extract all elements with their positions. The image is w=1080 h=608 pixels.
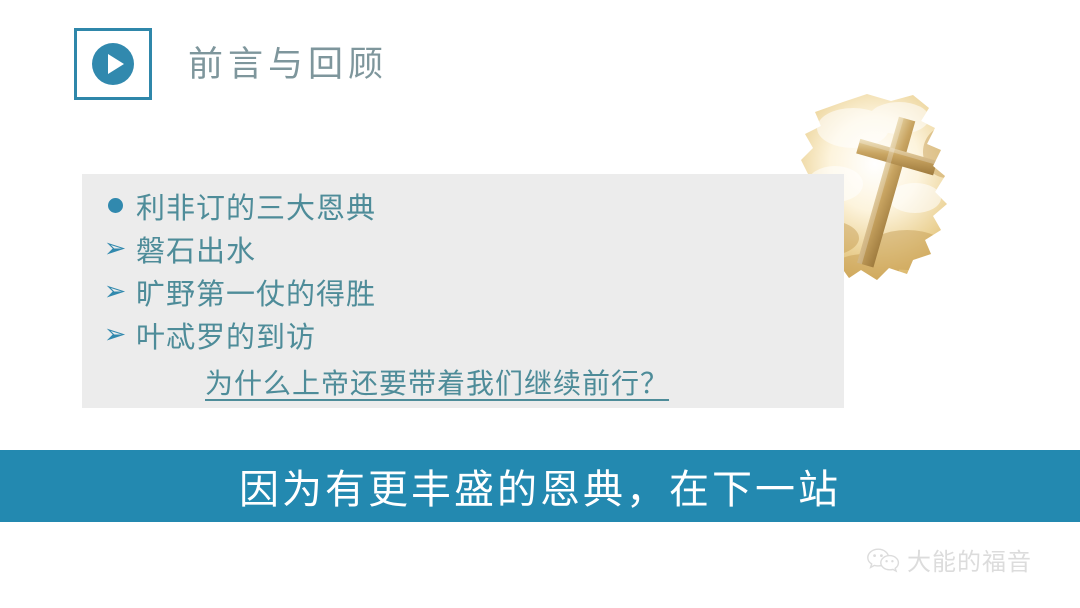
presentation-slide: 前言与回顾 [0, 0, 1080, 608]
bullet-dot-icon [94, 198, 136, 213]
list-item-label: 叶忒罗的到访 [136, 314, 316, 356]
frame-edge-left [74, 48, 77, 80]
list-item: ➢ 旷野第一仗的得胜 [94, 270, 376, 313]
play-button-icon [92, 43, 134, 85]
banner-text: 因为有更丰盛的恩典，在下一站 [239, 457, 841, 515]
watermark-label: 大能的福音 [907, 542, 1032, 577]
list-item-label: 旷野第一仗的得胜 [136, 271, 376, 313]
wechat-icon [866, 547, 900, 573]
frame-corner-bottom-right [127, 77, 152, 100]
page-title: 前言与回顾 [188, 47, 388, 82]
frame-corner-top-left [74, 28, 99, 51]
content-panel: 利非订的三大恩典 ➢ 磐石出水 ➢ 旷野第一仗的得胜 ➢ 叶忒罗的到访 为什么上… [82, 174, 844, 408]
highlight-banner: 因为有更丰盛的恩典，在下一站 [0, 450, 1080, 522]
bullet-arrow-icon: ➢ [94, 321, 136, 348]
bullet-list: 利非订的三大恩典 ➢ 磐石出水 ➢ 旷野第一仗的得胜 ➢ 叶忒罗的到访 [94, 184, 376, 356]
frame-edge-right [149, 48, 152, 80]
play-triangle-glyph [108, 54, 124, 74]
bullet-arrow-icon: ➢ [94, 235, 136, 262]
frame-edge-bottom [96, 97, 130, 100]
list-item: ➢ 磐石出水 [94, 227, 376, 270]
list-item: ➢ 叶忒罗的到访 [94, 313, 376, 356]
list-item: 利非订的三大恩典 [94, 184, 376, 227]
watermark: 大能的福音 [866, 542, 1032, 577]
panel-question-text: 为什么上帝还要带着我们继续前行？ [205, 362, 669, 402]
frame-edge-top [96, 28, 130, 31]
play-button-frame [74, 28, 152, 100]
list-item-label: 磐石出水 [136, 228, 256, 270]
bullet-arrow-icon: ➢ [94, 278, 136, 305]
list-item-label: 利非订的三大恩典 [136, 185, 376, 227]
slide-header: 前言与回顾 [74, 28, 388, 100]
